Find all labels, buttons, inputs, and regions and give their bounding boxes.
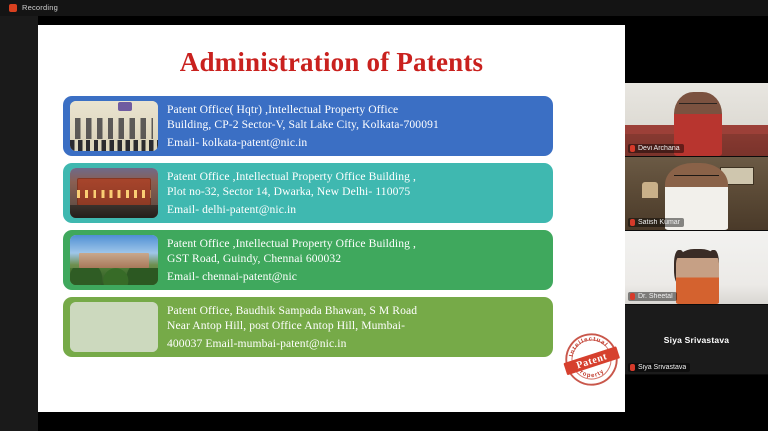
address-text: Patent Office ,Intellectual Property Off…	[167, 236, 416, 284]
recording-label: Recording	[22, 4, 58, 12]
chennai-office-building-photo	[70, 235, 158, 285]
list-item[interactable]: Patent Office ,Intellectual Property Off…	[63, 230, 553, 290]
page-title: Administration of Patents	[38, 47, 625, 78]
participant-name-badge: Siya Srivastava	[628, 363, 690, 372]
mic-muted-icon	[630, 293, 635, 300]
participant-display-name: Siya Srivastava	[664, 335, 729, 345]
participant-name: Satish Kumar	[638, 219, 680, 226]
email-line: Email- delhi-patent@nic.in	[167, 202, 416, 217]
mic-muted-icon	[630, 145, 635, 152]
email-line: Email- kolkata-patent@nic.in	[167, 135, 439, 150]
participant-name-badge: Satish Kumar	[628, 218, 684, 227]
address-line-2: Plot no-32, Sector 14, Dwarka, New Delhi…	[167, 184, 416, 199]
presentation-slide: Administration of Patents Patent Office(…	[38, 25, 625, 412]
meeting-screen-share-window: Recording Administration of Patents Pate…	[0, 0, 768, 431]
kolkata-office-building-photo	[70, 101, 158, 151]
audio-tile-siya-srivastava[interactable]: Siya Srivastava Siya Srivastava	[625, 305, 768, 375]
patent-office-list: Patent Office( Hqtr) ,Intellectual Prope…	[63, 96, 553, 364]
address-line-1: Patent Office, Baudhik Sampada Bhawan, S…	[167, 303, 417, 318]
address-line-2: Near Antop Hill, post Office Antop Hill,…	[167, 318, 417, 333]
list-item[interactable]: Patent Office ,Intellectual Property Off…	[63, 163, 553, 223]
participant-name: Siya Srivastava	[638, 364, 686, 371]
address-line-2: GST Road, Guindy, Chennai 600032	[167, 251, 416, 266]
email-line: 400037 Email-mumbai-patent@nic.in	[167, 336, 417, 351]
recording-bar: Recording	[0, 0, 768, 16]
participant-name: Dr. Sheetal	[638, 293, 673, 300]
delhi-office-building-photo	[70, 168, 158, 218]
video-tile-devi-archana[interactable]: Devi Archana	[625, 83, 768, 157]
list-item[interactable]: Patent Office( Hqtr) ,Intellectual Prope…	[63, 96, 553, 156]
empty-image-placeholder	[70, 302, 158, 352]
address-text: Patent Office( Hqtr) ,Intellectual Prope…	[167, 102, 439, 150]
video-tile-satish-kumar[interactable]: Satish Kumar	[625, 157, 768, 231]
left-gutter	[0, 16, 38, 431]
list-item[interactable]: Patent Office, Baudhik Sampada Bhawan, S…	[63, 297, 553, 357]
participant-name-badge: Dr. Sheetal	[628, 292, 677, 301]
video-tile-dr-sheetal[interactable]: Dr. Sheetal	[625, 231, 768, 305]
participant-name: Devi Archana	[638, 145, 680, 152]
participant-video-panel: Devi Archana Satish Kumar Dr. Sheetal Si…	[625, 83, 768, 375]
address-line-1: Patent Office( Hqtr) ,Intellectual Prope…	[167, 102, 439, 117]
address-text: Patent Office, Baudhik Sampada Bhawan, S…	[167, 303, 417, 351]
mic-muted-icon	[630, 364, 635, 371]
address-text: Patent Office ,Intellectual Property Off…	[167, 169, 416, 217]
address-line-2: Building, CP-2 Sector-V, Salt Lake City,…	[167, 117, 439, 132]
patent-rubber-stamp-icon: Intellectual Property Patent	[560, 328, 623, 391]
address-line-1: Patent Office ,Intellectual Property Off…	[167, 236, 416, 251]
email-line: Email- chennai-patent@nic	[167, 269, 416, 284]
record-square-icon	[9, 4, 17, 12]
participant-name-badge: Devi Archana	[628, 144, 684, 153]
mic-muted-icon	[630, 219, 635, 226]
address-line-1: Patent Office ,Intellectual Property Off…	[167, 169, 416, 184]
